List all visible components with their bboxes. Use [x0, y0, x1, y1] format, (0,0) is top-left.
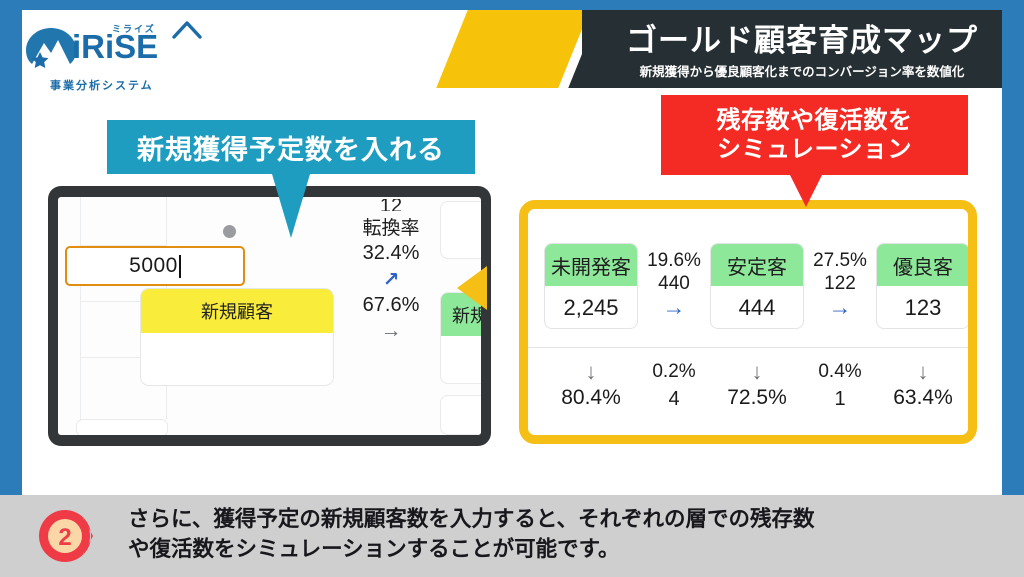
- revival-count: 4: [668, 388, 679, 411]
- revival-rate: 0.4%: [818, 361, 861, 383]
- caption-line-2: や復活数をシミュレーションすることが可能です。: [128, 535, 988, 565]
- page-subtitle: 新規獲得から優良顧客化までのコンバージョン率を数値化: [640, 61, 965, 80]
- simulation-panel: 未開発客 2,245 19.6% 440 → 安定客 444 27.5% 122…: [519, 200, 977, 444]
- header-text-group: ゴールド顧客育成マップ 新規獲得から優良顧客化までのコンバージョン率を数値化: [582, 16, 1002, 88]
- retention-rate: 80.4%: [561, 386, 621, 410]
- step-number-badge: 2: [38, 508, 94, 564]
- header-yellow-slant: [427, 10, 594, 88]
- retention-cell: ↓ 63.4%: [876, 361, 968, 410]
- retention-cell: ↓ 72.5%: [710, 361, 804, 410]
- segment-flow-row: 未開発客 2,245 19.6% 440 → 安定客 444 27.5% 122…: [528, 231, 968, 341]
- new-customer-input-value: 5000: [129, 254, 178, 278]
- segment-card-name: 未開発客: [545, 244, 637, 286]
- callout-red: 残存数や復活数を シミュレーション: [661, 95, 968, 175]
- frame-strip-left: [0, 0, 22, 495]
- conversion-count: 440: [658, 273, 690, 295]
- conversion-group: 19.6% 440 →: [638, 250, 710, 319]
- step-number-text: 2: [58, 524, 71, 551]
- segment-card-name: 安定客: [711, 244, 803, 286]
- segment-card[interactable]: 優良客 123: [876, 243, 968, 329]
- callout-teal-pointer: [272, 174, 310, 238]
- segment-card-name: 優良客: [877, 244, 968, 286]
- metric-label-conversion-rate: 転換率: [362, 213, 419, 240]
- sheet-dot-marker: [223, 225, 236, 238]
- arrow-down-icon: ↓: [918, 361, 929, 383]
- segment-card-count: 2,245: [545, 286, 637, 329]
- text-caret: [179, 255, 181, 278]
- conversion-rate: 27.5%: [813, 250, 867, 272]
- retention-rate: 63.4%: [893, 386, 953, 410]
- mountain-logo-icon: [24, 26, 78, 70]
- callout-red-line1: 残存数や復活数を: [717, 106, 913, 135]
- segment-card[interactable]: 安定客 444: [710, 243, 804, 329]
- chevron-up-icon: [172, 20, 202, 40]
- new-customer-card: 新規顧客: [140, 288, 334, 386]
- new-customer-input[interactable]: 5000: [65, 246, 245, 286]
- arrow-up-right-icon: ↗: [383, 267, 400, 292]
- segment-card-count: 444: [711, 286, 803, 329]
- panel-divider: [528, 347, 968, 348]
- partial-card-top: [440, 201, 481, 259]
- retention-row: ↓ 80.4% 0.2% 4 ↓ 72.5% 0.4% 1 ↓ 63.4%: [528, 361, 968, 435]
- segment-card[interactable]: 未開発客 2,245: [544, 243, 638, 329]
- callout-red-pointer: [790, 175, 822, 207]
- retention-rate: 72.5%: [727, 386, 787, 410]
- arrow-down-icon: ↓: [586, 361, 597, 383]
- new-customer-card-header: 新規顧客: [141, 289, 333, 333]
- brand-logo: ミライズ iRiSE 事業分析システム: [24, 22, 214, 94]
- callout-teal: 新規獲得予定数を入れる: [107, 120, 475, 174]
- revival-cell: 0.4% 1: [804, 361, 876, 411]
- revival-cell: 0.2% 4: [638, 361, 710, 411]
- metric-value-1: 32.4%: [363, 242, 420, 265]
- conversion-count: 122: [824, 273, 856, 295]
- simulation-panel-inner: 未開発客 2,245 19.6% 440 → 安定客 444 27.5% 122…: [528, 209, 968, 435]
- revival-rate: 0.2%: [652, 361, 695, 383]
- arrow-right-icon: →: [829, 296, 852, 319]
- arrow-down-icon: ↓: [752, 361, 763, 383]
- frame-strip-top: [0, 0, 1024, 10]
- logo-wordmark: iRiSE: [72, 30, 158, 63]
- logo-tagline: 事業分析システム: [50, 77, 154, 93]
- caption-text: さらに、獲得予定の新規顧客数を入力すると、それぞれの層での残存数 や復活数をシミ…: [128, 505, 988, 564]
- callout-teal-label: 新規獲得予定数を入れる: [137, 128, 445, 167]
- page-title: ゴールド顧客育成マップ: [626, 24, 978, 57]
- tablet-device: 新規顧客 5000 12 転換率 32.4% ↗ 67.6% → 新規: [48, 186, 491, 446]
- revival-count: 1: [834, 388, 845, 411]
- callout-red-line2: シミュレーション: [717, 135, 912, 164]
- sheet-grid-line: [80, 197, 81, 432]
- caption-line-1: さらに、獲得予定の新規顧客数を入力すると、それぞれの層での残存数: [128, 505, 988, 535]
- retention-cell: ↓ 80.4%: [544, 361, 638, 410]
- conversion-rate: 19.6%: [647, 250, 701, 272]
- arrow-right-icon: →: [381, 319, 402, 343]
- partial-card-bottom: [440, 395, 481, 435]
- frame-strip-right: [1002, 0, 1024, 495]
- conversion-group: 27.5% 122 →: [804, 250, 876, 319]
- tablet-screen: 新規顧客 5000 12 転換率 32.4% ↗ 67.6% → 新規: [58, 197, 481, 435]
- metric-value-2: 67.6%: [363, 294, 420, 317]
- segment-card-count: 123: [877, 286, 968, 329]
- tablet-metric-column: 12 転換率 32.4% ↗ 67.6% →: [354, 199, 428, 343]
- sheet-card-stub: [76, 419, 168, 435]
- metric-clipped-top: 12: [380, 199, 402, 211]
- arrow-right-icon: →: [663, 296, 686, 319]
- panel-left-pointer: [457, 266, 487, 310]
- slide-root: ゴールド顧客育成マップ 新規獲得から優良顧客化までのコンバージョン率を数値化 ミ…: [0, 0, 1024, 577]
